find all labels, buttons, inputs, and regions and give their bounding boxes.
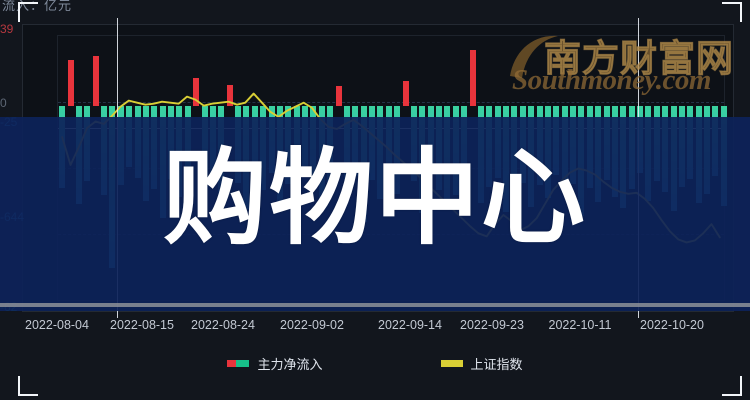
chart-legend: 主力净流入上证指数	[0, 352, 750, 374]
legend-marker-icon	[441, 360, 463, 367]
x-axis-label: 2022-10-20	[640, 318, 704, 332]
overlay-title: 购物中心	[0, 138, 750, 258]
x-axis-label: 2022-08-15	[110, 318, 174, 332]
header-strip: 流入：亿元	[0, 0, 750, 18]
chart-screenshot: 流入：亿元 390-25-644-62 2022-08-042022-08-15…	[0, 0, 750, 400]
x-axis-label: 2022-09-23	[460, 318, 524, 332]
x-axis-label: 2022-08-24	[191, 318, 255, 332]
y-axis-label: 39	[0, 22, 13, 36]
x-axis-label: 2022-09-02	[280, 318, 344, 332]
x-axis-label: 2022-08-04	[25, 318, 89, 332]
x-axis-label: 2022-09-14	[378, 318, 442, 332]
legend-marker-icon	[227, 360, 249, 367]
y-axis-label: 0	[0, 96, 7, 110]
legend-label: 上证指数	[471, 354, 523, 373]
legend-label: 主力净流入	[257, 354, 322, 373]
legend-item[interactable]: 主力净流入	[227, 354, 322, 373]
x-axis-label: 2022-10-11	[548, 318, 611, 332]
legend-item[interactable]: 上证指数	[441, 354, 523, 373]
selection-bottom-edge	[0, 303, 750, 307]
